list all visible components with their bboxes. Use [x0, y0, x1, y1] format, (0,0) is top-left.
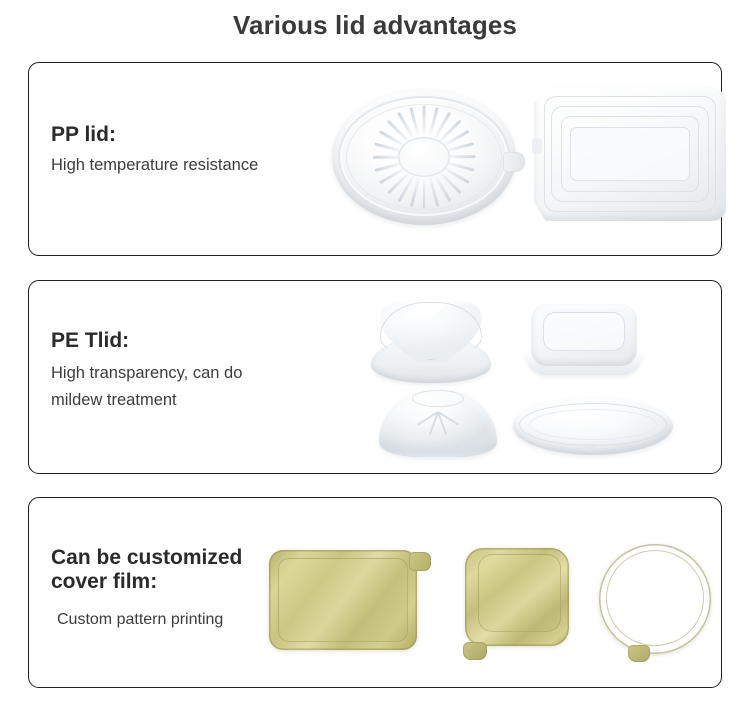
round-pp-lid-rib: [379, 167, 406, 184]
panel-cover-film: Can be customized cover film: Custom pat…: [28, 497, 722, 688]
round-pp-lid-rib: [439, 120, 462, 143]
round-pp-lid-rib: [445, 142, 474, 152]
round-pp-lid-rib: [374, 142, 403, 152]
oval-pe-lid-inner-ring: [529, 409, 657, 440]
round-pp-lid-inner-rim: [346, 104, 502, 210]
rectangular-gold-foil-body: [269, 550, 417, 650]
panel-cover-film-text: Can be customized cover film: Custom pat…: [51, 546, 242, 633]
round-pp-lid-rib: [423, 106, 426, 135]
dome-pe-lid-segment-line: [437, 412, 447, 435]
dome-pe-lid-segment-line: [438, 411, 459, 425]
round-pp-lid-rib: [409, 178, 419, 207]
round-pp-lid-rib: [445, 161, 474, 171]
rectangular-pp-lid-ridge-1: [544, 96, 717, 211]
panel-pp-lid-text: PP lid: High temperature resistance: [51, 123, 258, 179]
square-pe-lid-skirt: [526, 351, 642, 376]
round-pp-lid-rib: [373, 156, 402, 159]
circular-gold-foil-inner-panel: [606, 550, 705, 647]
round-pp-lid-rib: [387, 120, 410, 143]
square-pe-lid-image: [526, 299, 642, 377]
round-pp-lid-rib: [379, 130, 406, 147]
rectangular-pp-lid-ridge-3: [561, 116, 699, 191]
round-pp-lid-rib: [397, 112, 414, 139]
heart-pe-lid-base: [371, 336, 490, 383]
rectangular-pp-lid-notch: [532, 138, 542, 154]
oval-pe-lid-notch: [582, 444, 598, 453]
rectangular-pp-lid-image: [534, 87, 726, 221]
dome-pe-lid-top-circle: [412, 390, 464, 408]
dome-pe-lid-image: [379, 389, 497, 457]
panel-pe-lid: PE Tlid: High transparency, can do milde…: [28, 280, 722, 474]
square-gold-foil-body: [465, 548, 568, 646]
round-pp-lid-rib: [442, 130, 469, 147]
round-pp-lid-rib: [434, 112, 451, 139]
round-pp-lid-rib: [397, 175, 414, 202]
round-pp-lid-rib: [434, 175, 451, 202]
panel-pe-lid-text: PE Tlid: High transparency, can do milde…: [51, 329, 242, 414]
round-pp-lid-tab: [503, 152, 525, 172]
panel-pe-lid-heading: PE Tlid:: [51, 329, 242, 353]
heart-pe-lid-image: [369, 299, 493, 383]
panel-pp-lid: PP lid: High temperature resistance: [28, 62, 722, 256]
round-pp-lid-rib: [439, 172, 462, 195]
panel-pp-lid-description: High temperature resistance: [51, 152, 258, 179]
rectangular-pp-lid-ridge-2: [551, 106, 708, 202]
square-gold-foil-inner-panel: [478, 554, 561, 632]
square-pe-lid-inner-panel: [543, 312, 624, 351]
round-pp-lid-rib: [374, 161, 403, 171]
oval-pe-lid-outer-ring: [519, 403, 666, 446]
dome-pe-lid-segment-line: [429, 412, 439, 435]
square-pe-lid-body: [531, 304, 638, 366]
dome-pe-lid-cap: [379, 389, 497, 457]
round-pp-lid-rib: [428, 107, 438, 136]
round-pp-lid-rib: [428, 178, 438, 207]
panel-pp-lid-heading: PP lid:: [51, 123, 258, 147]
oval-pe-lid-body: [513, 397, 673, 455]
rectangular-gold-foil-tab: [409, 552, 431, 571]
rectangular-pp-lid-body: [534, 87, 726, 221]
panel-cover-film-heading: Can be customized cover film:: [51, 546, 242, 595]
circular-gold-foil-image: [599, 544, 711, 654]
round-pp-lid-rib: [446, 156, 475, 159]
round-pp-lid-center-hub: [398, 137, 450, 178]
oval-pe-lid-image: [513, 397, 673, 455]
rectangular-gold-foil-inner-panel: [278, 558, 408, 642]
dome-pe-lid-lip: [380, 446, 496, 457]
square-gold-foil-image: [461, 548, 571, 652]
circular-gold-foil-tab: [628, 645, 650, 662]
round-pp-lid-body: [332, 89, 516, 225]
round-pp-lid-rib: [442, 167, 469, 184]
heart-pe-lid-rim: [380, 302, 482, 361]
panel-pe-lid-description: High transparency, can do mildew treatme…: [51, 360, 242, 413]
rectangular-gold-foil-image: [269, 550, 417, 650]
page-title: Various lid advantages: [0, 10, 750, 41]
round-pp-lid-outer-rim: [338, 96, 511, 218]
round-pp-lid-rib: [423, 179, 426, 208]
panel-cover-film-description: Custom pattern printing: [51, 607, 242, 633]
heart-pe-lid-dome: [378, 299, 484, 363]
round-pp-lid-image: [332, 89, 516, 225]
circular-gold-foil-body: [599, 544, 711, 654]
square-gold-foil-tab: [463, 642, 487, 660]
round-pp-lid-rib: [387, 172, 410, 195]
rectangular-pp-lid-ridge-4: [570, 127, 689, 181]
dome-pe-lid-segment-line: [417, 411, 438, 425]
round-pp-lid-rib: [409, 107, 419, 136]
